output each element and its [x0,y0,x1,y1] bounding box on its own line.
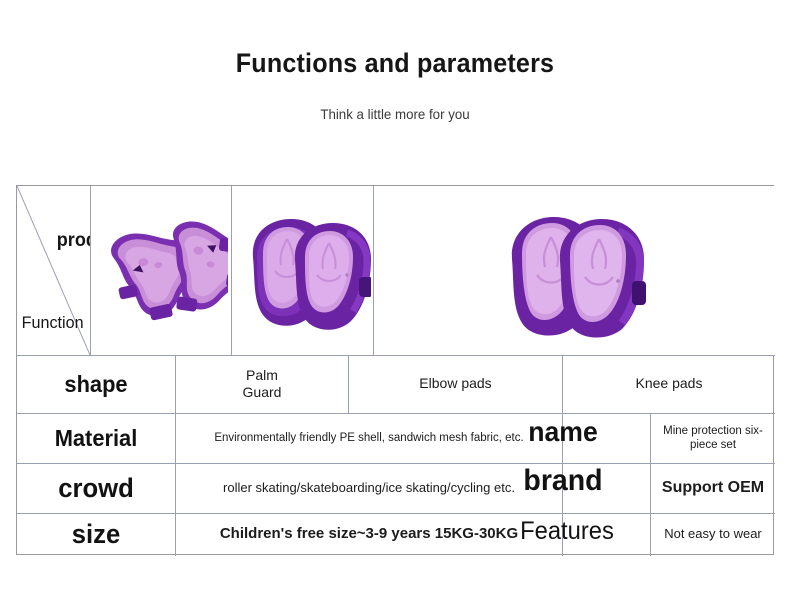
product-photo-knee-pads [374,186,774,355]
corner-product-label: product [57,230,90,252]
row-label-size: size [21,513,171,556]
page-header: Functions and parameters Think a little … [0,0,790,122]
right-label-brand: brand [510,464,616,498]
row-label-material: Material [21,413,171,463]
right-label-name: name [514,416,613,448]
knee-pads-photo [494,195,654,347]
cell-size-value: Children's free size~3-9 years 15KG-30KG [176,513,562,556]
cell-name-value: Mine protection six-piece set [651,413,775,463]
cell-features-value: Not easy to wear [651,513,775,556]
row-label-crowd: crowd [21,463,171,513]
cell-brand-value: Support OEM [651,463,775,513]
right-label-features: Features [514,517,620,546]
elbow-pads-photo [235,195,371,347]
product-photo-elbow-pads [232,186,373,355]
page-title: Functions and parameters [28,0,763,79]
product-photo-palm-guards [91,186,231,355]
cell-shape-palm-guard: Palm Guard [176,355,348,413]
row-label-shape: shape [21,355,171,413]
palm-guards-photo [94,196,228,346]
corner-header-cell: product Function [17,186,90,355]
cell-shape-knee-pads: Knee pads [563,355,775,413]
cell-material-value: Environmentally friendly PE shell, sandw… [176,413,562,463]
page-subtitle: Think a little more for you [20,79,771,122]
corner-function-label: Function [22,313,84,333]
cell-crowd-value: roller skating/skateboarding/ice skating… [176,463,562,513]
specification-table: product Function [16,185,774,555]
cell-shape-elbow-pads: Elbow pads [349,355,562,413]
